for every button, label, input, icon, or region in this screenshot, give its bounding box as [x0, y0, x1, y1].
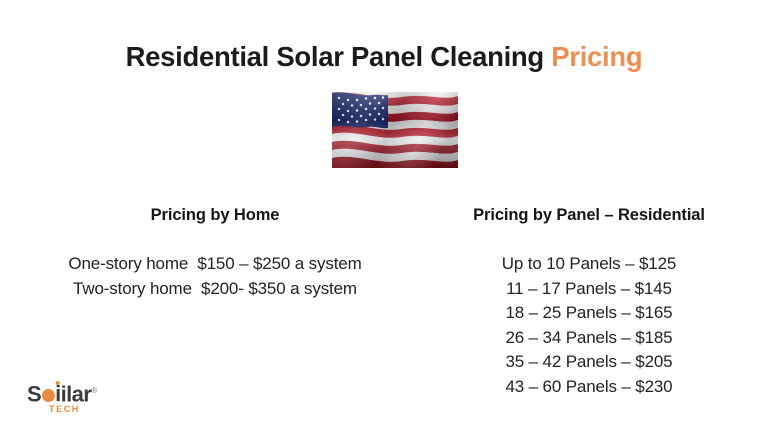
list-item: One-story home $150 – $250 a system: [14, 252, 416, 277]
list-item: 43 – 60 Panels – $230: [424, 375, 754, 400]
list-item: 11 – 17 Panels – $145: [424, 277, 754, 302]
list-item: 18 – 25 Panels – $165: [424, 301, 754, 326]
list-item: Two-story home $200- $350 a system: [14, 277, 416, 302]
logo-letter-i: i: [55, 383, 61, 405]
sun-icon: [42, 389, 55, 402]
page-title: Residential Solar Panel Cleaning Pricing: [0, 41, 768, 73]
pricing-by-panel-section: Pricing by Panel – Residential Up to 10 …: [424, 206, 754, 400]
logo-letters-lar: ilar: [61, 381, 92, 406]
list-item: 35 – 42 Panels – $205: [424, 350, 754, 375]
pricing-by-home-list: One-story home $150 – $250 a system Two-…: [14, 252, 416, 301]
pricing-by-home-section: Pricing by Home One-story home $150 – $2…: [14, 206, 416, 301]
flag-graphic: [332, 92, 458, 168]
pricing-by-home-heading: Pricing by Home: [14, 206, 416, 225]
registered-mark-icon: ®: [91, 386, 96, 395]
logo-letter-s: S: [27, 381, 41, 406]
page-title-accent: Pricing: [551, 41, 642, 72]
list-item: 26 – 34 Panels – $185: [424, 326, 754, 351]
page-title-main: Residential Solar Panel Cleaning: [126, 41, 552, 72]
logo-wordmark: Siilar®: [27, 380, 113, 402]
pricing-by-panel-list: Up to 10 Panels – $125 11 – 17 Panels – …: [424, 252, 754, 400]
list-item: Up to 10 Panels – $125: [424, 252, 754, 277]
sun-dot-icon: [56, 381, 61, 386]
soilar-tech-logo: Siilar® TECH: [27, 380, 113, 418]
pricing-by-panel-heading: Pricing by Panel – Residential: [424, 206, 754, 225]
united-states-flag-image: [332, 92, 458, 168]
